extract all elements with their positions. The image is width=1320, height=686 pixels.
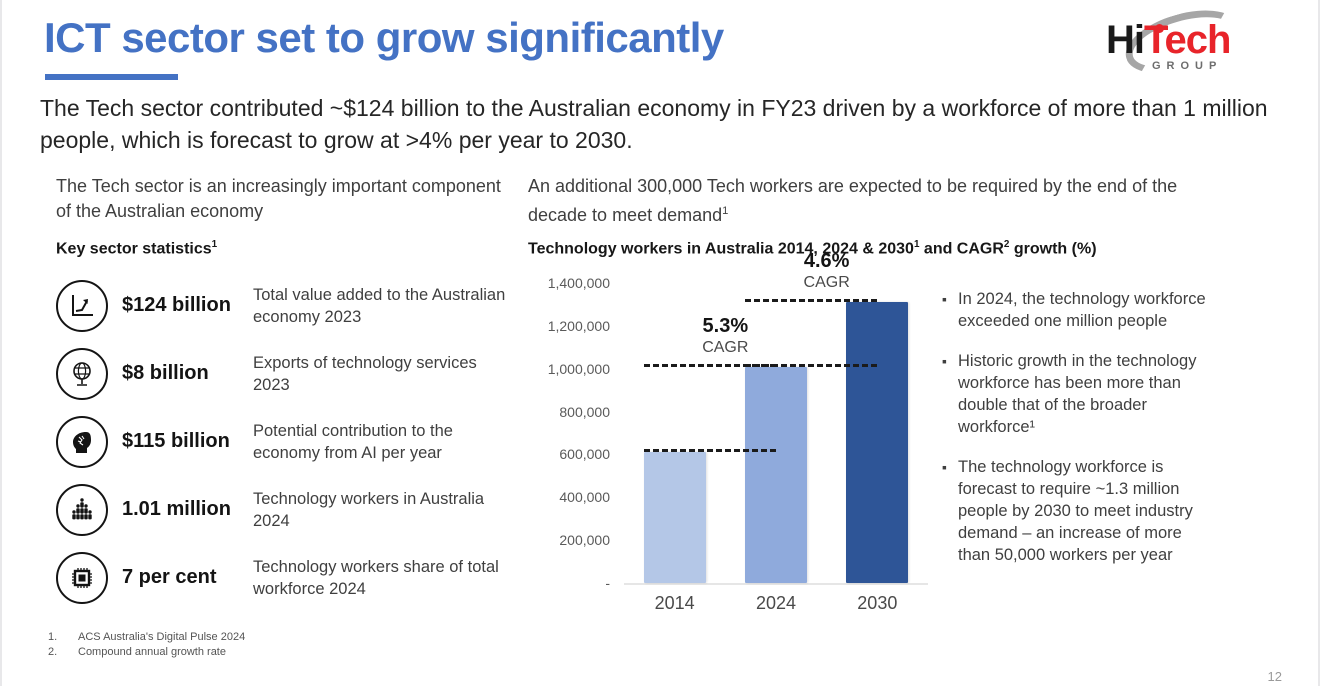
x-axis-tick-label: 2030 [837, 593, 917, 614]
ai-brain-icon [56, 416, 108, 468]
logo-group-text: GROUP [1152, 60, 1222, 72]
list-item: ▪ The technology workforce is forecast t… [942, 456, 1207, 566]
bullet-marker-icon: ▪ [942, 456, 958, 566]
chart-heading-part2: and CAGR [919, 240, 1003, 257]
y-axis-tick-label: - [605, 575, 610, 591]
people-group-icon [56, 484, 108, 536]
bar-2014[interactable] [644, 452, 706, 583]
x-axis-tick-label: 2024 [736, 593, 816, 614]
chart-plot-area: 5.3%CAGR4.6%CAGR [624, 275, 928, 585]
kicker-footnote-ref: 1 [212, 239, 218, 250]
list-item: $124 billion Total value added to the Au… [56, 275, 516, 336]
cagr-guide-dash-lower [745, 364, 877, 367]
logo-hi-text: Hi [1106, 18, 1144, 62]
chart-baseline [624, 583, 928, 585]
globe-icon [56, 348, 108, 400]
stat-description: Technology workers share of total workfo… [253, 556, 516, 600]
cagr-percent: 4.6% [779, 250, 875, 273]
y-axis-tick-label: 800,000 [559, 404, 610, 420]
stat-description: Technology workers in Australia 2024 [253, 488, 516, 532]
left-column-lead: The Tech sector is an increasingly impor… [56, 174, 516, 224]
cagr-guide-dash-upper [745, 299, 877, 302]
slide-subtitle: The Tech sector contributed ~$124 billio… [40, 92, 1290, 156]
x-axis-tick-label: 2014 [635, 593, 715, 614]
right-lead-footnote-ref: 1 [722, 205, 728, 217]
bullet-text: In 2024, the technology workforce exceed… [958, 288, 1207, 332]
stat-description: Total value added to the Australian econ… [253, 284, 516, 328]
key-statistics-list: $124 billion Total value added to the Au… [56, 275, 516, 615]
footnote-text: ACS Australia's Digital Pulse 2024 [78, 630, 245, 645]
stat-value: 1.01 million [122, 498, 247, 521]
bar-2024[interactable] [745, 367, 807, 583]
bar-2030[interactable] [846, 302, 908, 583]
cagr-label: CAGR [677, 339, 773, 357]
cagr-annotation: 5.3%CAGR [677, 315, 773, 357]
cagr-percent: 5.3% [677, 315, 773, 338]
right-column-lead: An additional 300,000 Tech workers are e… [528, 174, 1208, 228]
line-chart-icon [56, 280, 108, 332]
stat-value: $115 billion [122, 430, 247, 453]
slide: ICT sector set to grow significantly The… [0, 0, 1320, 686]
y-axis-tick-label: 1,400,000 [548, 275, 610, 291]
footnote-list: 1. ACS Australia's Digital Pulse 2024 2.… [48, 630, 245, 660]
footnote-number: 2. [48, 645, 78, 660]
logo-wordmark: HiTech [1106, 20, 1230, 60]
technology-workers-bar-chart: 1,400,0001,200,0001,000,000800,000600,00… [528, 275, 928, 620]
list-item: ▪ Historic growth in the technology work… [942, 350, 1207, 438]
stat-value: $8 billion [122, 362, 247, 385]
footnote-text: Compound annual growth rate [78, 645, 226, 660]
cagr-annotation: 4.6%CAGR [779, 250, 875, 292]
y-axis-tick-label: 1,000,000 [548, 361, 610, 377]
page-title: ICT sector set to grow significantly [44, 14, 724, 62]
title-underline-accent [45, 74, 178, 80]
list-item: ▪ In 2024, the technology workforce exce… [942, 288, 1207, 332]
kicker-text: Key sector statistics [56, 240, 212, 257]
y-axis-tick-label: 400,000 [559, 489, 610, 505]
hitech-group-logo: HiTech GROUP [1106, 12, 1274, 82]
bullet-marker-icon: ▪ [942, 288, 958, 332]
key-sector-statistics-heading: Key sector statistics1 [56, 239, 217, 258]
chart-y-axis: 1,400,0001,200,0001,000,000800,000600,00… [528, 275, 610, 585]
list-item: $8 billion Exports of technology service… [56, 343, 516, 404]
list-item: 2. Compound annual growth rate [48, 645, 245, 660]
list-item: 7 per cent Technology workers share of t… [56, 547, 516, 608]
list-item: 1. ACS Australia's Digital Pulse 2024 [48, 630, 245, 645]
bullet-text: The technology workforce is forecast to … [958, 456, 1207, 566]
list-item: 1.01 million Technology workers in Austr… [56, 479, 516, 540]
y-axis-tick-label: 200,000 [559, 532, 610, 548]
list-item: $115 billion Potential contribution to t… [56, 411, 516, 472]
bullet-marker-icon: ▪ [942, 350, 958, 438]
page-number: 12 [1268, 669, 1282, 684]
stat-value: 7 per cent [122, 566, 247, 589]
y-axis-tick-label: 600,000 [559, 446, 610, 462]
y-axis-tick-label: 1,200,000 [548, 318, 610, 334]
logo-dot-icon [1155, 24, 1164, 33]
stat-description: Exports of technology services 2023 [253, 352, 516, 396]
stat-value: $124 billion [122, 294, 247, 317]
chart-x-axis: 201420242030 [624, 593, 928, 619]
bullet-text: Historic growth in the technology workfo… [958, 350, 1207, 438]
footnote-number: 1. [48, 630, 78, 645]
cagr-guide-dash-lower [644, 449, 776, 452]
insight-bullet-list: ▪ In 2024, the technology workforce exce… [942, 288, 1207, 584]
right-lead-text: An additional 300,000 Tech workers are e… [528, 176, 1177, 225]
stat-description: Potential contribution to the economy fr… [253, 420, 516, 464]
microchip-icon [56, 552, 108, 604]
cagr-label: CAGR [779, 274, 875, 292]
chart-heading-part3: growth (%) [1009, 240, 1096, 257]
